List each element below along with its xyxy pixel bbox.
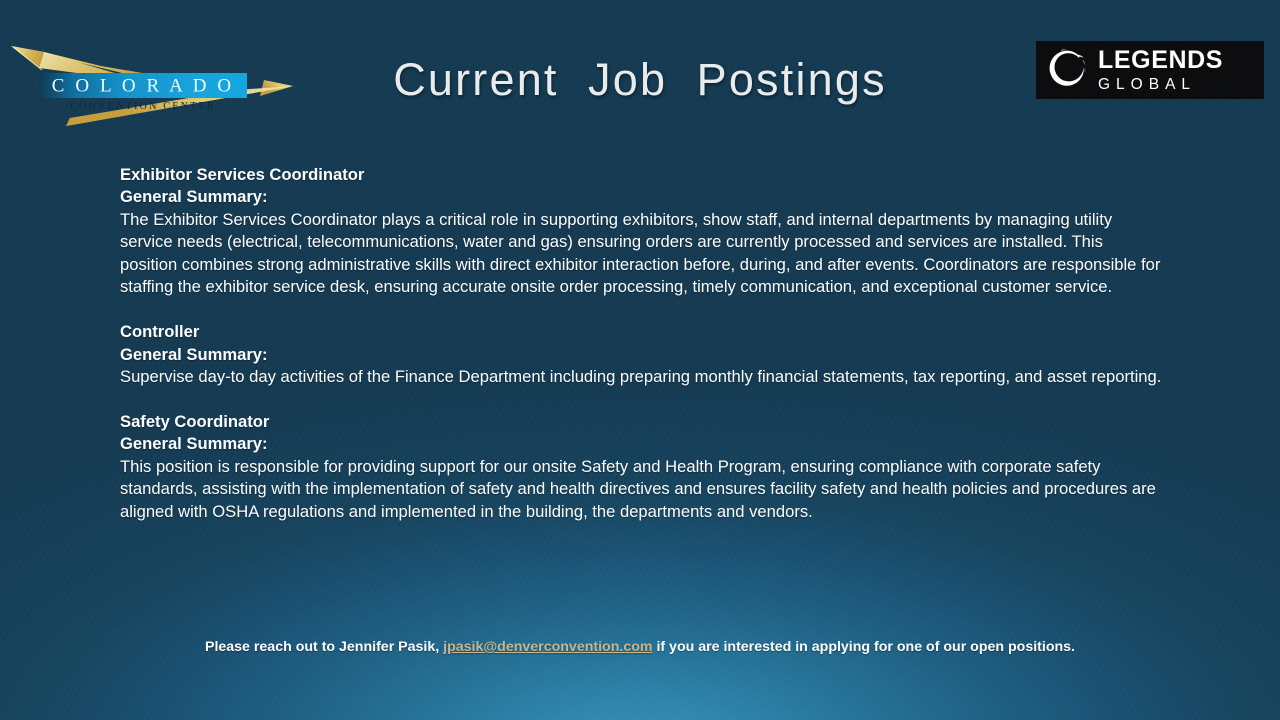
job-posting: Controller General Summary: Supervise da…	[120, 321, 1162, 388]
legends-global-logo: LEGENDS GLOBAL	[1036, 41, 1264, 99]
job-posting: Exhibitor Services Coordinator General S…	[120, 164, 1162, 299]
job-title: Exhibitor Services Coordinator	[120, 164, 1162, 186]
job-title: Controller	[120, 321, 1162, 343]
contact-email-link[interactable]: jpasik@denverconvention.com	[443, 639, 652, 655]
legends-line-1: LEGENDS	[1098, 48, 1223, 73]
job-posting: Safety Coordinator General Summary: This…	[120, 411, 1162, 523]
job-summary-label: General Summary:	[120, 344, 1162, 366]
footer-text-after-email: if you are interested in applying for on…	[653, 639, 1076, 655]
legends-brush-circle-icon	[1043, 46, 1091, 94]
contact-footer: Please reach out to Jennifer Pasik, jpas…	[0, 639, 1280, 655]
job-summary-label: General Summary:	[120, 186, 1162, 208]
job-description: This position is responsible for providi…	[120, 456, 1162, 523]
legends-wordmark: LEGENDS GLOBAL	[1098, 48, 1223, 93]
job-summary-label: General Summary:	[120, 433, 1162, 455]
legends-line-2: GLOBAL	[1098, 77, 1223, 93]
footer-text-before-email: Please reach out to Jennifer Pasik,	[205, 639, 443, 655]
job-postings-list: Exhibitor Services Coordinator General S…	[120, 164, 1162, 523]
job-description: The Exhibitor Services Coordinator plays…	[120, 209, 1162, 299]
job-description: Supervise day-to day activities of the F…	[120, 366, 1162, 388]
job-title: Safety Coordinator	[120, 411, 1162, 433]
slide-canvas: C O L O R A D O CONVENTION CENTER Curren…	[0, 0, 1280, 720]
